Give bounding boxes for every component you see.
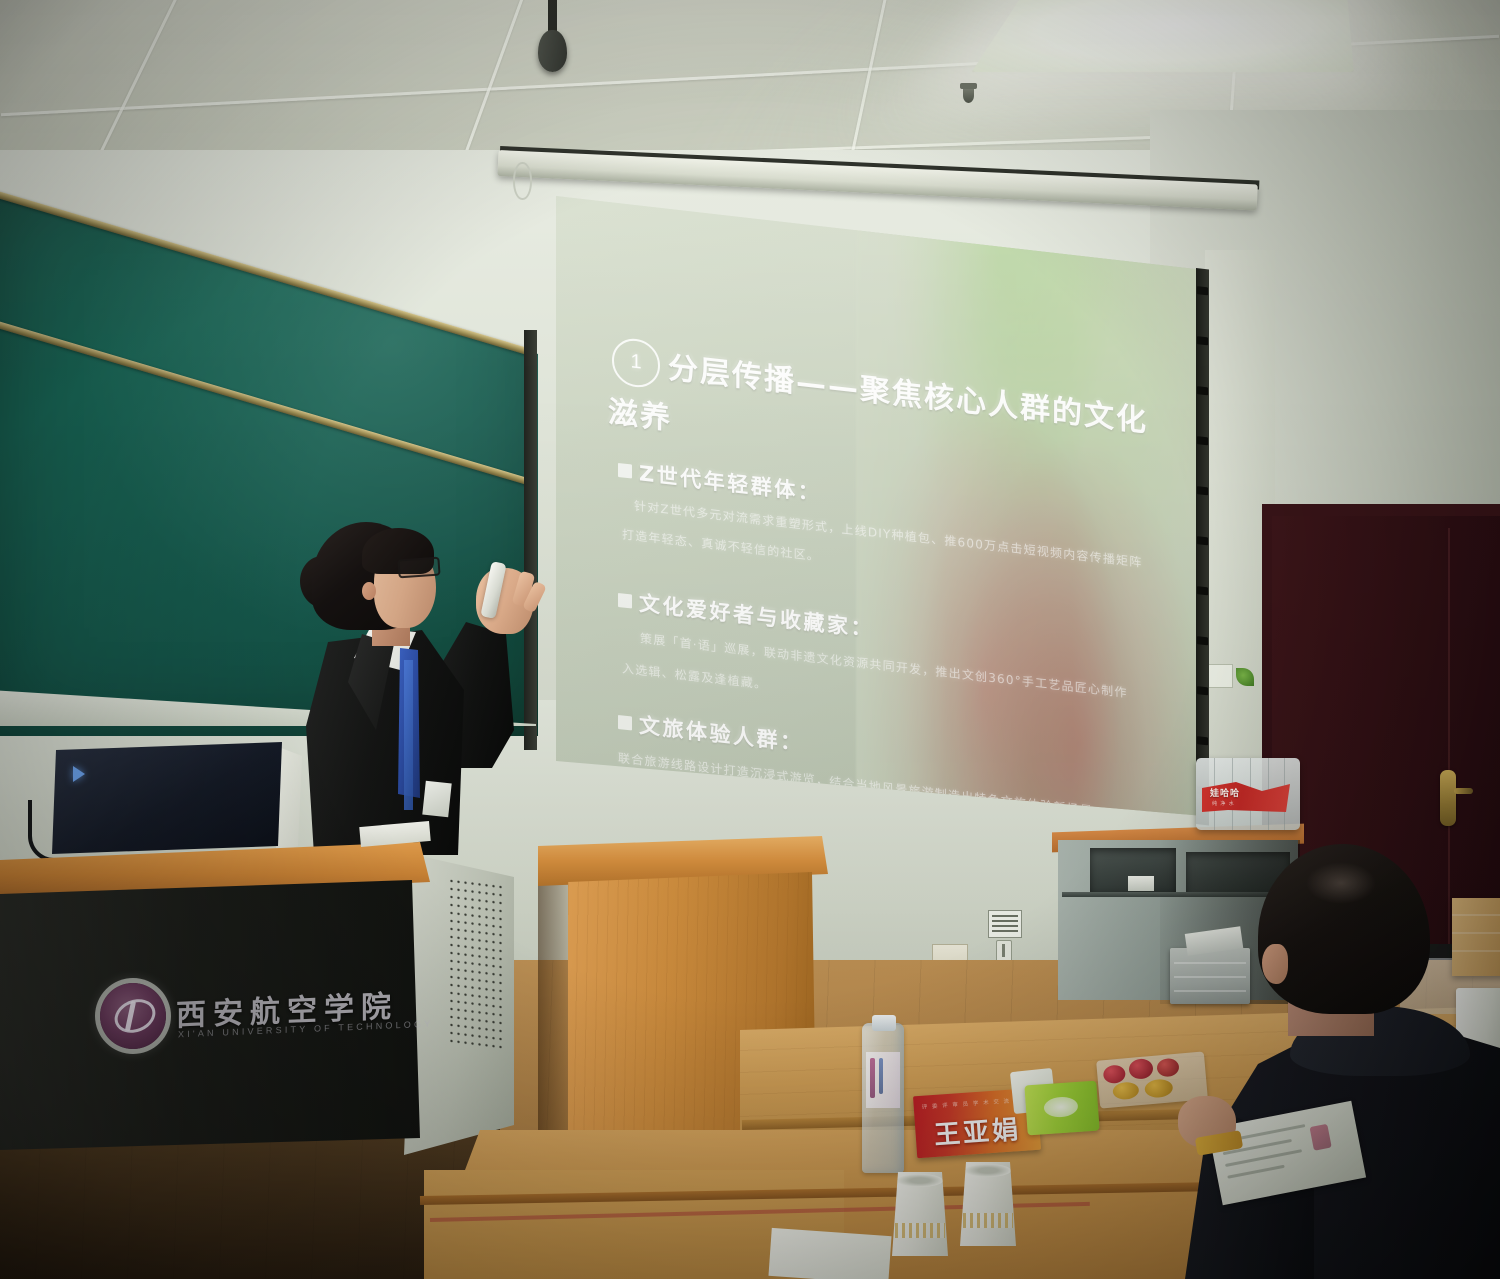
slide-title-line-2: 滋养 xyxy=(608,387,672,438)
water-pack-subtitle: 纯 净 水 xyxy=(1212,800,1235,807)
slide-body-1-line-1: 针对Z世代多元对流需求重塑形式，上线DIY种植包、推600万点击短视频内容传播矩… xyxy=(634,497,1142,571)
presenter-glasses-icon xyxy=(397,557,440,579)
door-handle-plate[interactable] xyxy=(1440,770,1456,826)
classroom-scene: 1 分层传播——聚焦核心人群的文化 滋养 Z世代年轻群体： 针对Z世代多元对流需… xyxy=(0,0,1500,1279)
projection-screen: 1 分层传播——聚焦核心人群的文化 滋养 Z世代年轻群体： 针对Z世代多元对流需… xyxy=(556,196,1216,816)
storage-bin xyxy=(1170,948,1250,1004)
slide-heading-3-text: 文旅体验人群： xyxy=(639,713,804,755)
podium-speaker-grille xyxy=(448,877,504,1054)
presenter-lanyard xyxy=(404,660,413,810)
door-seam xyxy=(1448,528,1450,944)
presenter-id-badge xyxy=(422,781,451,818)
wall-notice-sign xyxy=(988,910,1022,938)
bottled-water-pack: 娃哈哈 纯 净 水 xyxy=(1196,758,1300,830)
ceiling-speaker-icon xyxy=(538,30,567,72)
slide-body-2-line-2: 入选辑、松露及逢植藏。 xyxy=(622,659,767,692)
wall-power-socket[interactable] xyxy=(996,940,1012,962)
water-pack-brand: 娃哈哈 xyxy=(1210,786,1240,799)
play-triangle-icon xyxy=(73,766,85,782)
university-emblem xyxy=(100,983,166,1049)
kraft-box xyxy=(1452,898,1500,976)
bullet-square-icon xyxy=(618,463,632,479)
tissue-pack xyxy=(1024,1081,1099,1136)
sprinkler-head-icon xyxy=(963,88,974,103)
name-card-name: 王亚娟 xyxy=(914,1108,1040,1154)
water-bottle-label xyxy=(866,1052,900,1108)
ceiling-led-panel-light xyxy=(972,0,1354,72)
bullet-square-icon xyxy=(618,715,632,731)
presenter-ear xyxy=(362,582,376,600)
wall-notice-small xyxy=(1205,664,1233,688)
paper-cup xyxy=(960,1162,1016,1246)
door-lever-icon[interactable] xyxy=(1454,788,1473,794)
chalkboard-right-frame xyxy=(524,330,537,750)
slide-heading-3: 文旅体验人群： xyxy=(618,707,804,758)
paper-sheet-on-table xyxy=(768,1228,891,1279)
paper-cup xyxy=(892,1172,948,1256)
water-bottle-cap xyxy=(872,1015,896,1031)
cabinet-small-box xyxy=(1128,876,1154,891)
bullet-square-icon xyxy=(618,593,632,609)
audience-person-ear xyxy=(1262,944,1288,984)
audience-person-hair-highlight xyxy=(1306,862,1376,904)
laptop-cable xyxy=(28,800,88,862)
screen-pull-cord[interactable] xyxy=(513,162,532,200)
projection-screen-right-edge xyxy=(1196,268,1209,825)
slide-content: 1 分层传播——聚焦核心人群的文化 滋养 Z世代年轻群体： 针对Z世代多元对流需… xyxy=(556,196,1216,816)
slide-title-line-1: 分层传播——聚焦核心人群的文化 xyxy=(668,343,1148,441)
slide-body-2-line-1: 策展「首·语」巡展，联动非遗文化资源共同开发，推出文创360°手工艺品匠心制作 xyxy=(640,629,1128,701)
slide-heading-1-text: Z世代年轻群体： xyxy=(639,461,821,505)
slide-section-number: 1 xyxy=(612,336,660,389)
